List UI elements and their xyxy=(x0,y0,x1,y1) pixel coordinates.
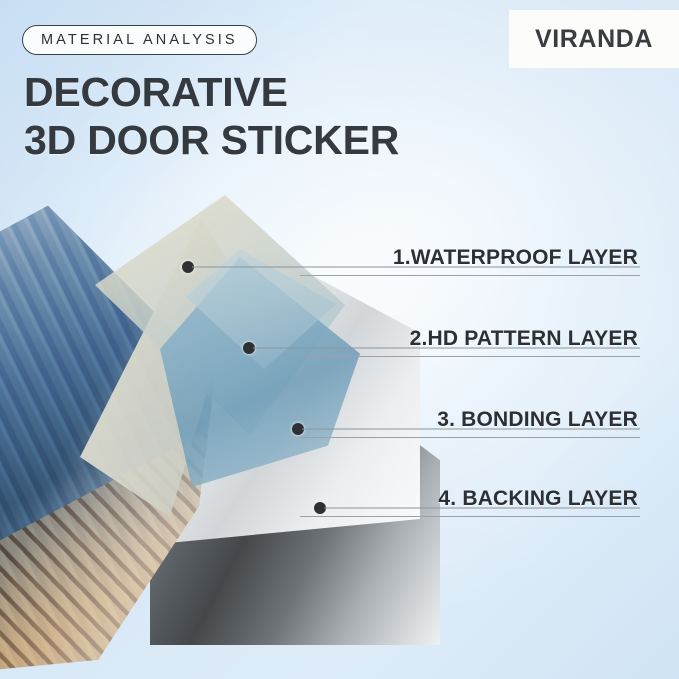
material-analysis-badge: MATERIAL ANALYSIS xyxy=(22,25,257,55)
badge-label: MATERIAL ANALYSIS xyxy=(41,32,238,48)
brand-logo-box: VIRANDA xyxy=(509,10,679,68)
callout-rule-waterproof xyxy=(300,275,640,276)
callout-label-backing: 4. BACKING LAYER xyxy=(438,487,638,511)
callout-rule-hd-pattern xyxy=(300,356,640,357)
callout-label-bonding: 3. BONDING LAYER xyxy=(437,408,638,432)
title-line-2: 3D DOOR STICKER xyxy=(24,118,399,162)
callout-rule-bonding xyxy=(300,437,640,438)
infographic-canvas: MATERIAL ANALYSIS VIRANDA DECORATIVE 3D … xyxy=(0,0,679,679)
title-line-1: DECORATIVE xyxy=(24,70,399,114)
callout-label-hd-pattern: 2.HD PATTERN LAYER xyxy=(410,327,638,351)
page-title: DECORATIVE 3D DOOR STICKER xyxy=(24,70,399,163)
callout-rule-backing xyxy=(300,516,640,517)
brand-name: VIRANDA xyxy=(535,25,653,54)
callout-label-waterproof: 1.WATERPROOF LAYER xyxy=(393,246,638,270)
